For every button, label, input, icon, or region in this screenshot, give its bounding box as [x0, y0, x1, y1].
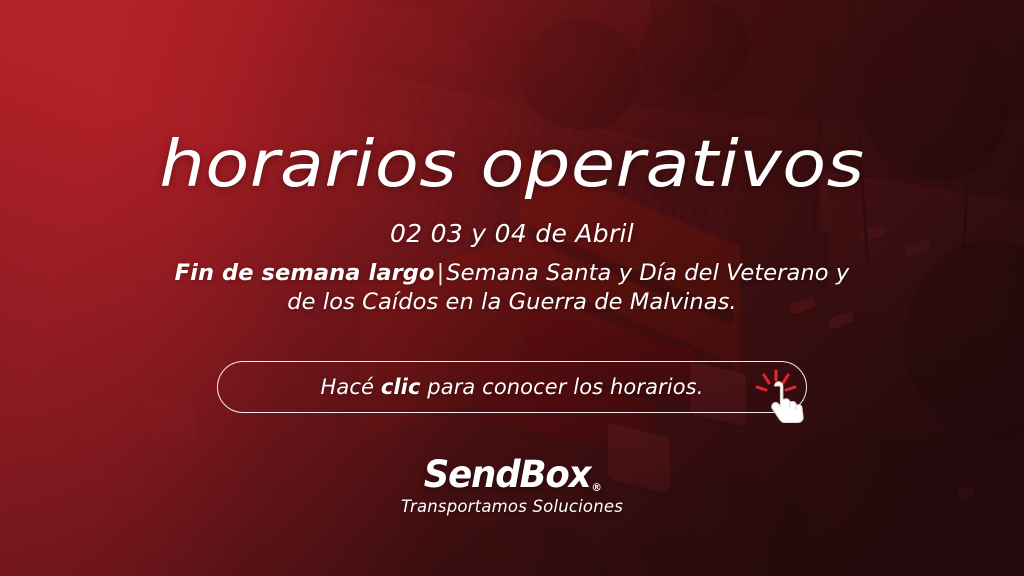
logo-tagline: Transportamos Soluciones — [0, 497, 1024, 516]
cta-suffix: para conocer los horarios. — [421, 375, 704, 399]
dates-subtitle: 02 03 y 04 de Abril — [0, 219, 1024, 248]
logo-wordmark: SendBox® — [423, 453, 600, 496]
description-separator: | — [435, 260, 447, 286]
page-title: horarios operativos — [0, 133, 1024, 197]
registered-trademark-icon: ® — [591, 481, 602, 494]
cta-strong: clic — [381, 375, 421, 399]
description-text: Fin de semana largo|Semana Santa y Día d… — [172, 259, 852, 317]
cta-prefix: Hacé — [321, 375, 381, 399]
cta-button[interactable]: Hacé clic para conocer los horarios. — [217, 361, 807, 413]
promo-banner: horarios operativos 02 03 y 04 de Abril … — [0, 0, 1024, 576]
logo-name: SendBox — [423, 453, 590, 496]
cta-button-label: Hacé clic para conocer los horarios. — [321, 375, 704, 399]
description-strong: Fin de semana largo — [175, 260, 435, 286]
banner-content: horarios operativos 02 03 y 04 de Abril … — [0, 0, 1024, 576]
cta-area: Hacé clic para conocer los horarios. — [217, 361, 807, 413]
brand-logo: SendBox® Transportamos Soluciones — [0, 453, 1024, 516]
